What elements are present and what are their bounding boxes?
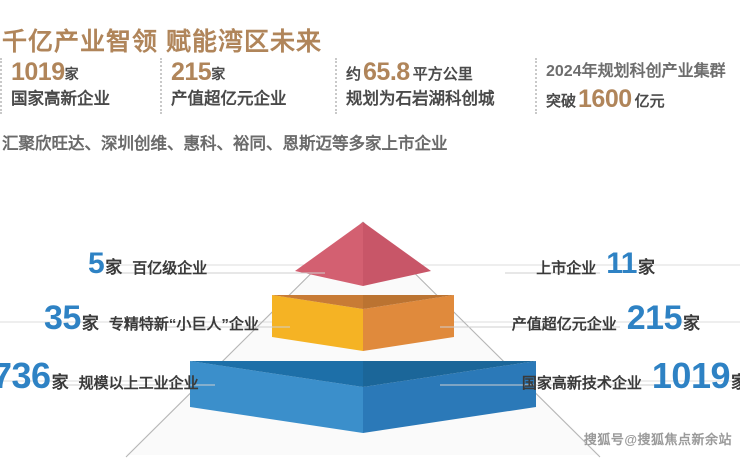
label-desc: 专精特新“小巨人”企业 <box>109 313 259 334</box>
stat-head-text: 2024年规划科创产业集群 <box>546 63 726 80</box>
pyramid-label-left-bottom: 736家 规模以上工业企业 <box>0 355 199 397</box>
stat-value: 65.8 <box>363 58 410 86</box>
page-title: 千亿产业智领 赋能湾区未来 <box>2 22 322 58</box>
stat-value: 1600 <box>578 85 632 113</box>
stat-value-row: 突破1600亿元 <box>546 86 740 112</box>
stat-caption: 产值超亿元企业 <box>171 86 335 112</box>
label-desc: 国家高新技术企业 <box>522 372 642 393</box>
label-unit: 家 <box>105 253 122 278</box>
label-value: 5 <box>88 247 104 281</box>
label-value: 215 <box>627 299 682 338</box>
stat-unit: 家 <box>65 66 79 82</box>
pyramid-label-right-top: 上市企业 11家 <box>536 247 655 281</box>
label-unit: 家 <box>731 368 740 393</box>
pyramid-label-right-middle: 产值超亿元企业 215家 <box>512 299 700 338</box>
stat-suffix: 平方公里 <box>413 66 473 83</box>
stat-block-mianji: 约65.8平方公里 规划为石岩湖科创城 <box>335 58 535 114</box>
label-unit: 家 <box>638 253 655 278</box>
stat-value-row: 215家 <box>171 58 335 86</box>
tier-top-face-left <box>295 222 363 286</box>
pyramid-label-right-bottom: 国家高新技术企业 1019家 <box>522 355 740 397</box>
stat-prefix: 约 <box>346 66 361 83</box>
label-desc: 百亿级企业 <box>132 257 207 278</box>
label-value: 11 <box>606 247 637 281</box>
label-value: 35 <box>44 299 81 338</box>
stat-value: 215 <box>171 58 211 86</box>
stat-block-yiyuan: 215家 产值超亿元企业 <box>160 58 335 114</box>
stat-block-chanzhi: 2024年规划科创产业集群 突破1600亿元 <box>535 58 740 114</box>
label-desc: 规模以上工业企业 <box>79 372 199 393</box>
label-desc: 上市企业 <box>536 257 596 278</box>
label-value: 736 <box>0 355 51 397</box>
stat-block-gaoxin: 1019家 国家高新企业 <box>0 58 160 114</box>
stat-value: 1019 <box>11 58 65 86</box>
stat-suffix: 亿元 <box>635 93 665 110</box>
tier-top-face-right <box>363 222 431 286</box>
pyramid-label-left-top: 5家 百亿级企业 <box>88 247 207 281</box>
stat-caption: 规划为石岩湖科创城 <box>346 86 535 112</box>
label-value: 1019 <box>652 355 730 397</box>
pyramid-diagram: 5家 百亿级企业 35家 专精特新“小巨人”企业 736家 规模以上工业企业 上… <box>0 185 740 460</box>
stat-value-row: 约65.8平方公里 <box>346 58 535 86</box>
stat-head-row: 2024年规划科创产业集群 <box>546 58 740 86</box>
pyramid-label-left-middle: 35家 专精特新“小巨人”企业 <box>44 299 259 338</box>
label-unit: 家 <box>52 368 69 393</box>
label-desc: 产值超亿元企业 <box>512 313 617 334</box>
stat-unit: 家 <box>211 66 225 82</box>
header-subtitle: 汇聚欣旺达、深圳创维、惠科、裕同、恩斯迈等多家上市企业 <box>2 130 448 154</box>
infographic-canvas: 千亿产业智领 赋能湾区未来 1019家 国家高新企业 215家 产值超亿元企业 … <box>0 0 740 460</box>
stat-prefix: 突破 <box>546 93 576 110</box>
label-unit: 家 <box>683 309 700 334</box>
stat-value-row: 1019家 <box>11 58 160 86</box>
watermark: 搜狐号@搜狐焦点新余站 <box>584 429 732 448</box>
stat-caption: 国家高新企业 <box>11 86 160 112</box>
label-unit: 家 <box>82 309 99 334</box>
